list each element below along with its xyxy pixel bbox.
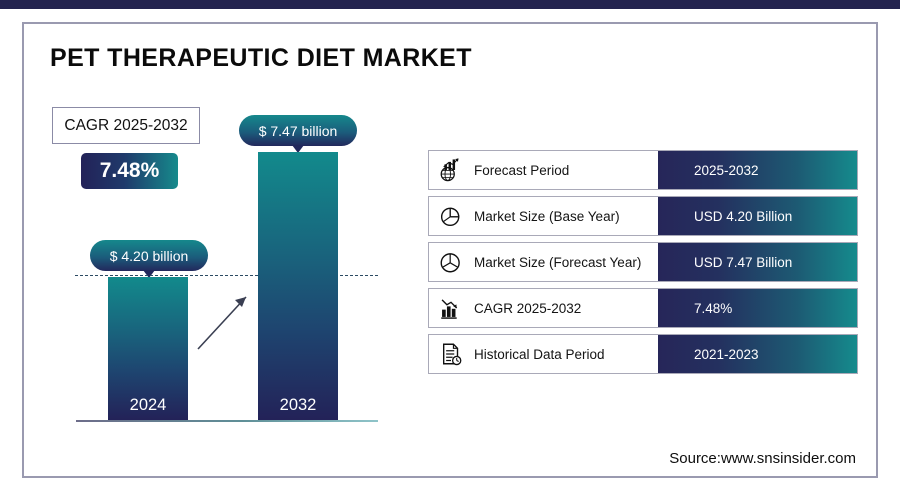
globe-chart-icon (438, 156, 464, 184)
table-row-value: 2025-2032 (694, 163, 759, 178)
table-row-value-cell: USD 7.47 Billion (658, 243, 857, 281)
table-row: CAGR 2025-2032 7.48% (428, 288, 858, 328)
bar-2032 (258, 152, 338, 420)
bar-callout-2024: $ 4.20 billion (90, 240, 208, 271)
bar-callout-2032-label: $ 7.47 billion (259, 123, 338, 139)
table-row-value: 7.48% (694, 301, 732, 316)
market-summary-table: Forecast Period 2025-2032 Market Size (B… (428, 150, 858, 380)
table-row-label: Historical Data Period (474, 347, 605, 362)
table-row-label-cell: Market Size (Forecast Year) (429, 243, 658, 281)
table-row-value-cell: 7.48% (658, 289, 857, 327)
table-row-label: Market Size (Base Year) (474, 209, 620, 224)
table-row-value-cell: 2021-2023 (658, 335, 857, 373)
cagr-period-box: CAGR 2025-2032 (52, 107, 200, 144)
table-row-value-cell: 2025-2032 (658, 151, 857, 189)
source-attribution: Source:www.snsinsider.com (669, 450, 856, 467)
cagr-period-label: CAGR 2025-2032 (64, 117, 187, 135)
page-title: PET THERAPEUTIC DIET MARKET (50, 44, 472, 73)
table-row: Market Size (Base Year) USD 4.20 Billion (428, 196, 858, 236)
document-clock-icon (438, 340, 464, 368)
pie-chart-icon (438, 202, 464, 230)
bar-label-2024: 2024 (108, 396, 188, 415)
cagr-value-badge: 7.48% (81, 153, 178, 189)
table-row-label-cell: Forecast Period (429, 151, 658, 189)
table-row-label: CAGR 2025-2032 (474, 301, 581, 316)
table-row-value: 2021-2023 (694, 347, 759, 362)
table-row: Historical Data Period 2021-2023 (428, 334, 858, 374)
table-row-label-cell: Market Size (Base Year) (429, 197, 658, 235)
table-row: Market Size (Forecast Year) USD 7.47 Bil… (428, 242, 858, 282)
table-row-value-cell: USD 4.20 Billion (658, 197, 857, 235)
bar-callout-2024-label: $ 4.20 billion (110, 248, 189, 264)
bar-callout-2032: $ 7.47 billion (239, 115, 357, 146)
table-row-label: Forecast Period (474, 163, 569, 178)
growth-arrow-icon (190, 285, 260, 355)
pie-chart-segments-icon (438, 248, 464, 276)
bar-chart-trend-icon (438, 294, 464, 322)
table-row-label-cell: CAGR 2025-2032 (429, 289, 658, 327)
cagr-value-label: 7.48% (100, 159, 160, 183)
table-row-value: USD 7.47 Billion (694, 255, 792, 270)
table-row-value: USD 4.20 Billion (694, 209, 792, 224)
table-row: Forecast Period 2025-2032 (428, 150, 858, 190)
table-row-label-cell: Historical Data Period (429, 335, 658, 373)
infographic-canvas: PET THERAPEUTIC DIET MARKET CAGR 2025-20… (0, 0, 900, 500)
table-row-label: Market Size (Forecast Year) (474, 255, 641, 270)
chart-baseline (76, 420, 378, 422)
bar-label-2032: 2032 (258, 396, 338, 415)
top-accent-bar (0, 0, 900, 9)
